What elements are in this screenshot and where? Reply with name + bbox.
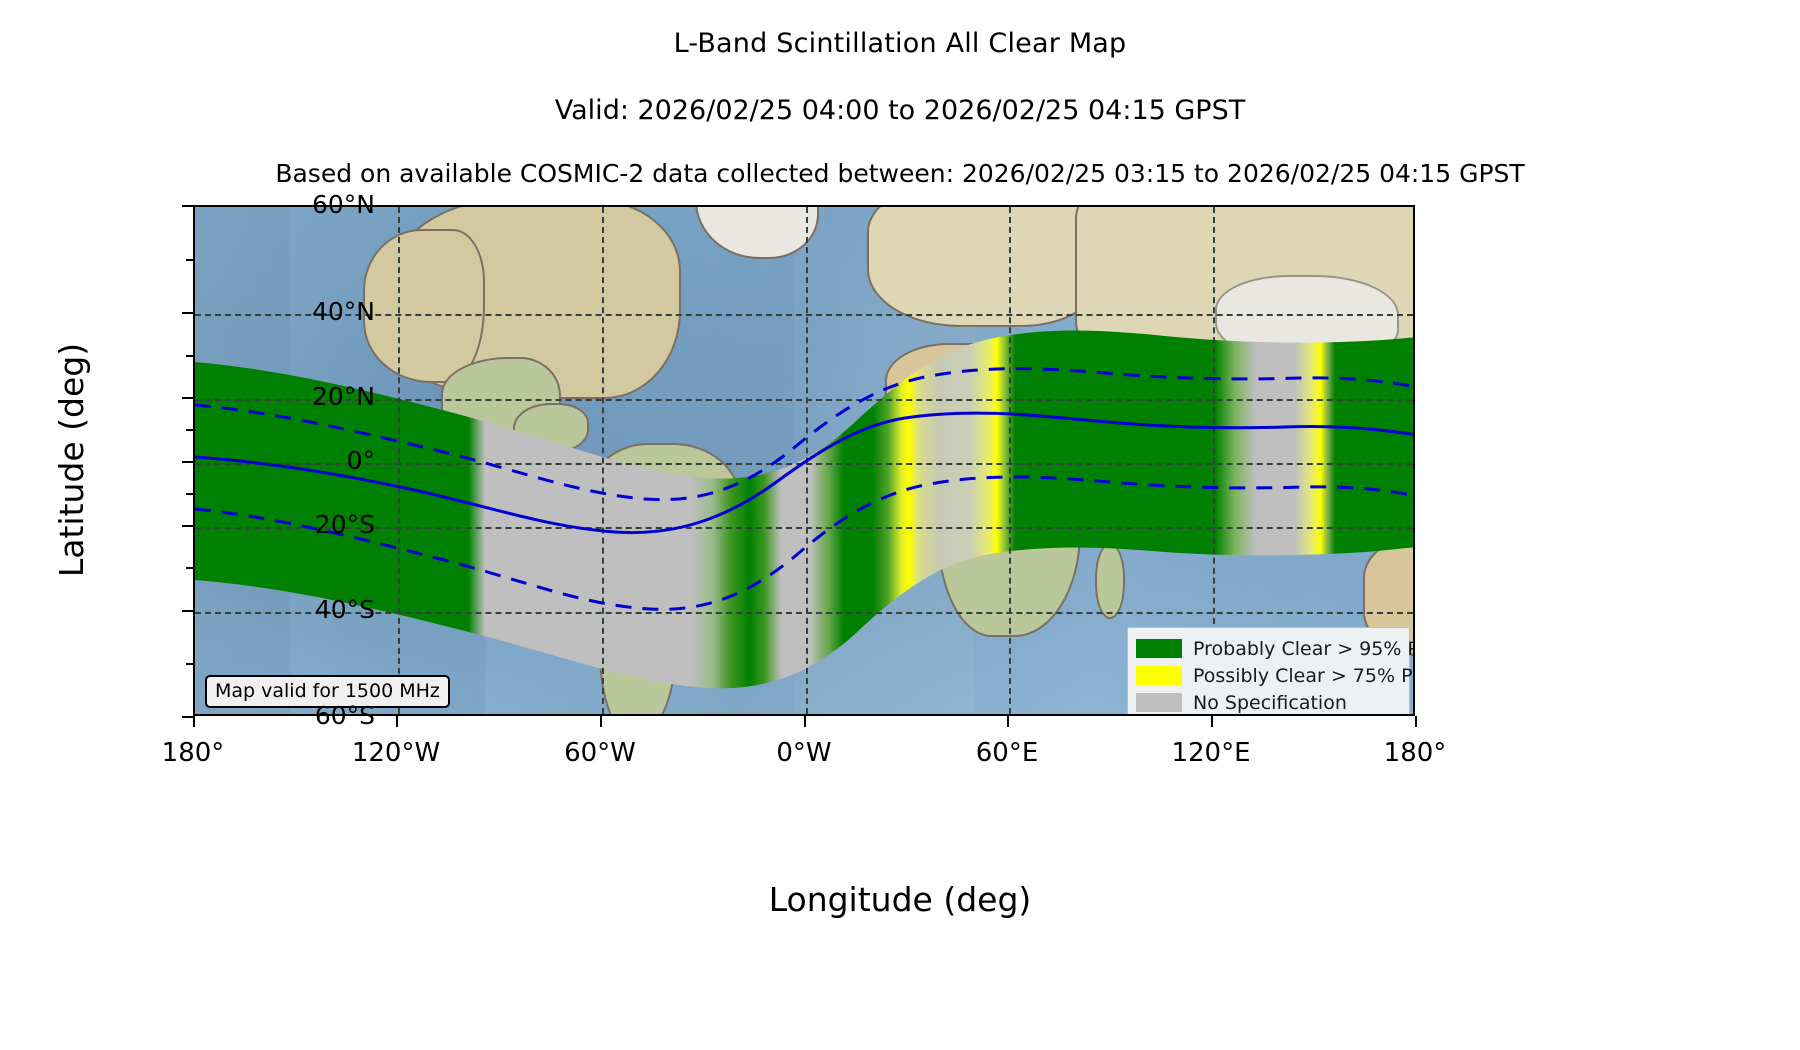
xtick-label: 120°W xyxy=(296,738,496,768)
xtick-60W xyxy=(600,716,602,727)
xtick-60E xyxy=(1007,716,1009,727)
xtick-label: 60°W xyxy=(500,738,700,768)
ytick-minor-5 xyxy=(186,567,193,569)
legend-item: No Specification xyxy=(1136,689,1401,716)
band-south-edge-dashed xyxy=(195,477,1415,609)
map-plot-area[interactable]: Probably Clear > 95% Probability Clear P… xyxy=(193,205,1415,716)
ytick-label: 40°S xyxy=(195,595,375,624)
header-block: L-Band Scintillation All Clear Map Valid… xyxy=(0,0,1800,188)
data-provenance-line: Based on available COSMIC-2 data collect… xyxy=(0,159,1800,188)
page-title: L-Band Scintillation All Clear Map xyxy=(0,28,1800,59)
magnetic-equator-line xyxy=(195,413,1415,532)
ytick-label: 20°S xyxy=(195,510,375,539)
ytick-minor-4 xyxy=(186,493,193,495)
xtick-180W xyxy=(193,716,195,727)
xtick-120W xyxy=(396,716,398,727)
xtick-label: 180° xyxy=(93,738,293,768)
xtick-120E xyxy=(1211,716,1213,727)
legend-swatch-probably-clear xyxy=(1136,639,1182,658)
ytick-label: 60°S xyxy=(195,701,375,730)
ytick-40S xyxy=(182,610,193,612)
ytick-label: 0° xyxy=(195,446,375,475)
ytick-minor-6 xyxy=(186,663,193,665)
ytick-60S xyxy=(182,716,193,718)
legend-swatch-possibly-clear xyxy=(1136,666,1182,685)
legend-item: Possibly Clear > 75% Probability Clear xyxy=(1136,662,1401,689)
ytick-60N xyxy=(182,205,193,207)
ytick-minor-2 xyxy=(186,355,193,357)
ytick-minor-3 xyxy=(186,429,193,431)
xtick-label: 0°W xyxy=(704,738,904,768)
ytick-label: 20°N xyxy=(195,382,375,411)
xtick-180E xyxy=(1415,716,1417,727)
legend-label: No Specification xyxy=(1193,692,1347,714)
xtick-label: 180° xyxy=(1315,738,1515,768)
ytick-20N xyxy=(182,397,193,399)
x-axis-title: Longitude (deg) xyxy=(0,880,1800,919)
map-legend: Probably Clear > 95% Probability Clear P… xyxy=(1127,627,1410,716)
band-north-edge-dashed xyxy=(195,369,1415,500)
legend-label: Possibly Clear > 75% Probability Clear xyxy=(1193,665,1415,687)
legend-item: Probably Clear > 95% Probability Clear xyxy=(1136,635,1401,662)
legend-swatch-no-specification xyxy=(1136,693,1182,712)
xtick-label: 60°E xyxy=(907,738,1107,768)
legend-label: Probably Clear > 95% Probability Clear xyxy=(1193,638,1415,660)
xtick-0 xyxy=(804,716,806,727)
ytick-40N xyxy=(182,312,193,314)
ytick-minor-1 xyxy=(186,259,193,261)
xtick-label: 120°E xyxy=(1111,738,1311,768)
figure-root: L-Band Scintillation All Clear Map Valid… xyxy=(0,0,1800,1050)
ytick-0 xyxy=(182,461,193,463)
valid-period-subtitle: Valid: 2026/02/25 04:00 to 2026/02/25 04… xyxy=(0,95,1800,126)
ytick-label: 40°N xyxy=(195,297,375,326)
y-axis-title: Latitude (deg) xyxy=(52,200,91,720)
ytick-label: 60°N xyxy=(195,190,375,219)
ytick-20S xyxy=(182,525,193,527)
